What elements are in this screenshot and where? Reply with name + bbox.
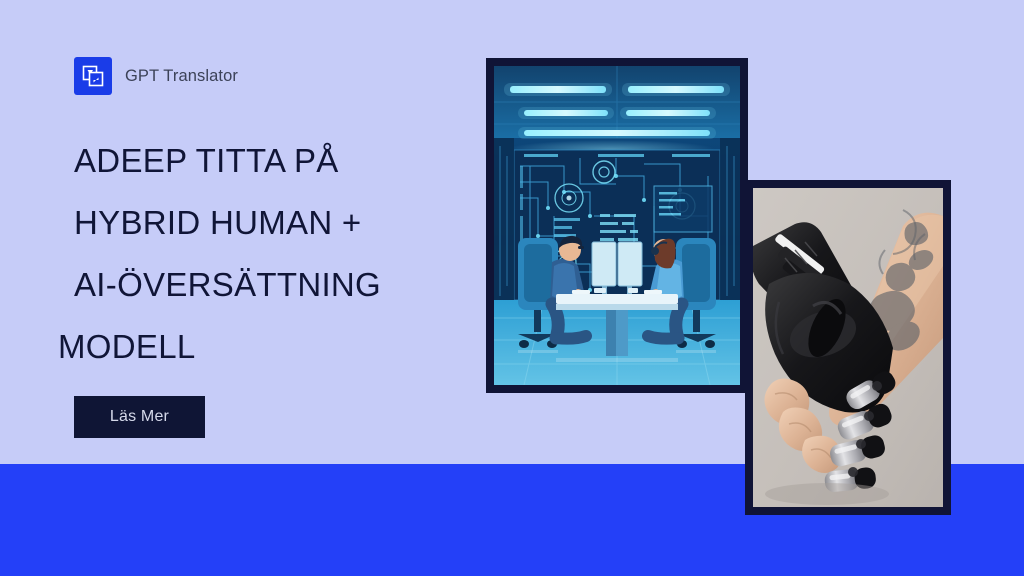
office-scene-art: [494, 66, 740, 385]
headline-line-2: HYBRID HUMAN +: [58, 192, 458, 254]
headline-line-3: AI-ÖVERSÄTTNING: [58, 254, 458, 316]
headline-line-1: ADEEP TITTA PÅ: [58, 130, 458, 192]
brand-name: GPT Translator: [125, 67, 238, 86]
handshake-scene-art: [753, 188, 943, 507]
page-title: ADEEP TITTA PÅ HYBRID HUMAN + AI-ÖVERSÄT…: [58, 130, 458, 378]
read-more-button[interactable]: Läs Mer: [74, 396, 205, 438]
futuristic-office-photo: [486, 58, 748, 393]
translate-icon: [74, 57, 112, 95]
robot-human-handshake-photo: [745, 180, 951, 515]
brand-lockup: GPT Translator: [74, 57, 238, 95]
headline-line-4: MODELL: [58, 316, 458, 378]
